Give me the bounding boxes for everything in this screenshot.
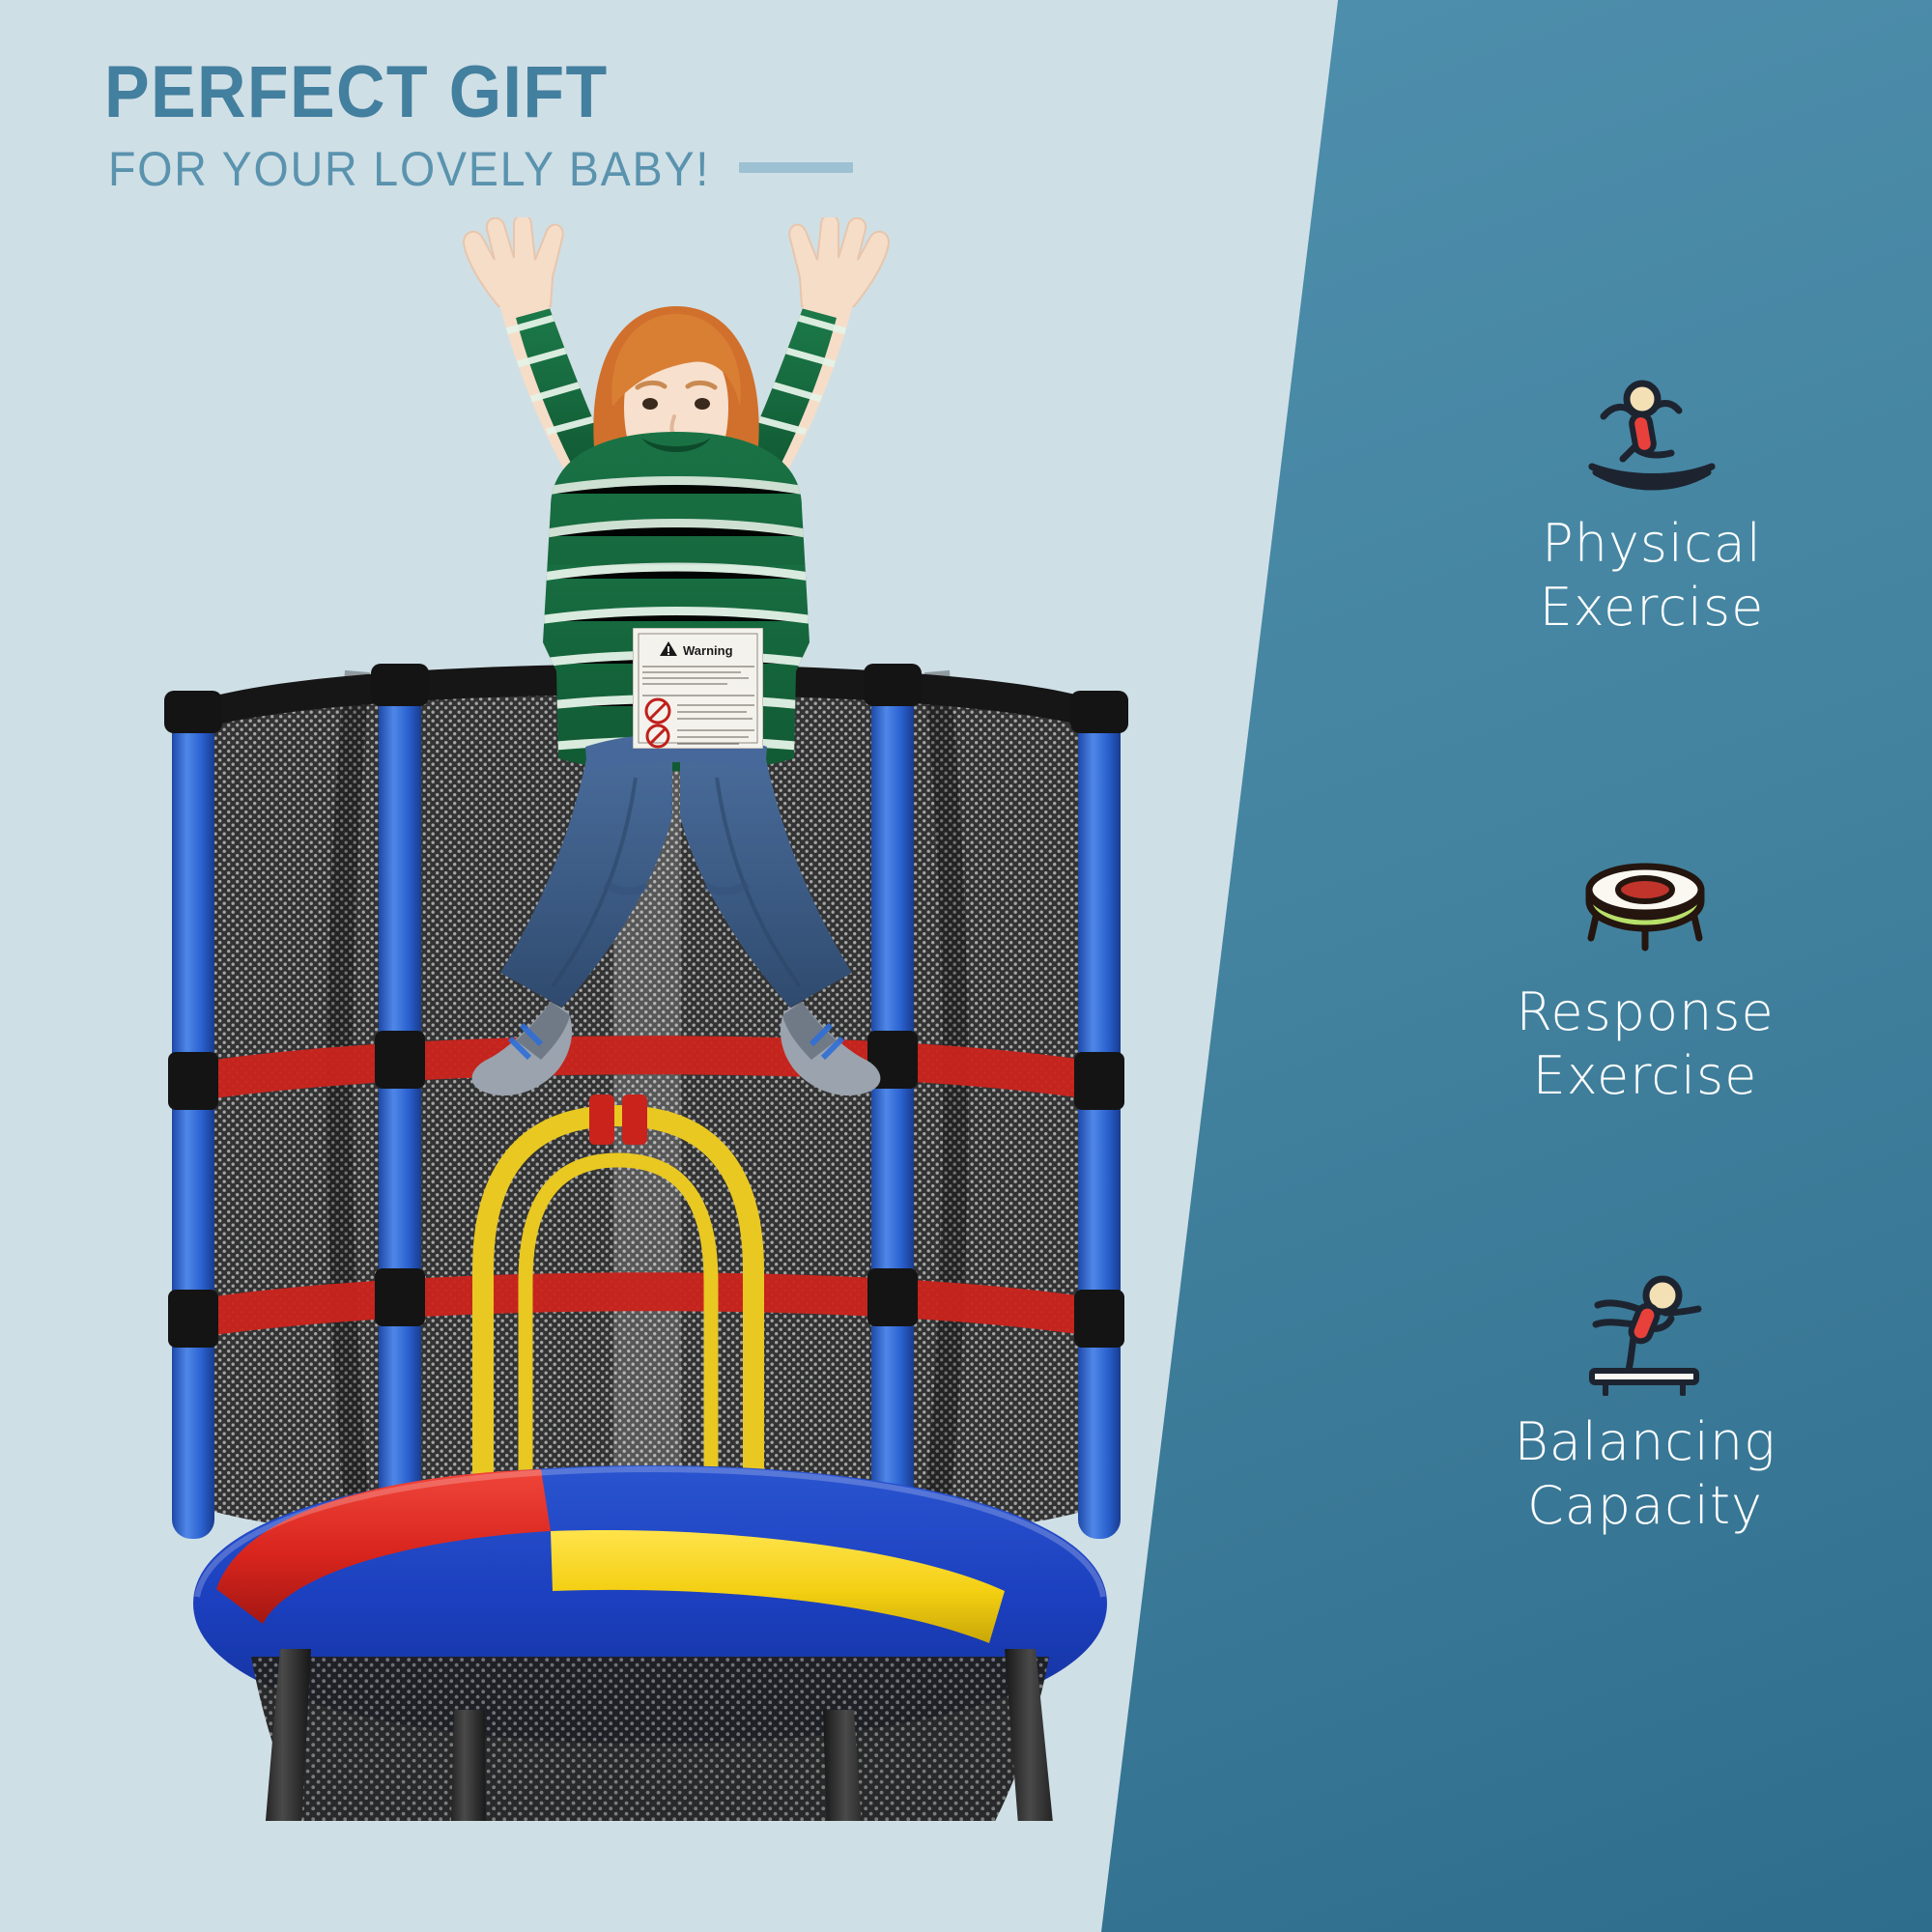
feature-item-response-exercise: Response Exercise: [1418, 826, 1872, 1108]
child-hand: [789, 217, 889, 306]
child-jeans: [500, 734, 852, 1009]
child-hand: [464, 217, 563, 306]
child-shoe: [472, 1002, 572, 1095]
enclosure-pole: [164, 691, 222, 1539]
feature-label: Balancing Capacity: [1418, 1410, 1872, 1538]
warning-title: Warning: [683, 643, 733, 658]
feature-label: Response Exercise: [1418, 980, 1872, 1108]
page-subtitle: FOR YOUR LOVELY BABY!: [108, 141, 710, 197]
warning-label: Warning: [633, 628, 763, 749]
balancing-figure-on-beam-icon: [1418, 1256, 1872, 1410]
poster-canvas: PERFECT GIFT FOR YOUR LOVELY BABY!: [0, 0, 1932, 1932]
feature-label: Physical Exercise: [1425, 512, 1879, 639]
header-divider: [739, 162, 853, 173]
feature-item-physical-exercise: Physical Exercise: [1425, 357, 1879, 639]
feature-item-balancing-capacity: Balancing Capacity: [1418, 1256, 1872, 1538]
trampoline-icon: [1418, 826, 1872, 980]
enclosure-pole: [1070, 691, 1128, 1539]
bouncing-figure-on-trampoline-icon: [1425, 357, 1879, 512]
child-shoe: [781, 1002, 880, 1095]
trampoline-leg: [1005, 1649, 1068, 1821]
page-title: PERFECT GIFT: [104, 50, 609, 134]
product-image: Warning: [126, 217, 1207, 1860]
